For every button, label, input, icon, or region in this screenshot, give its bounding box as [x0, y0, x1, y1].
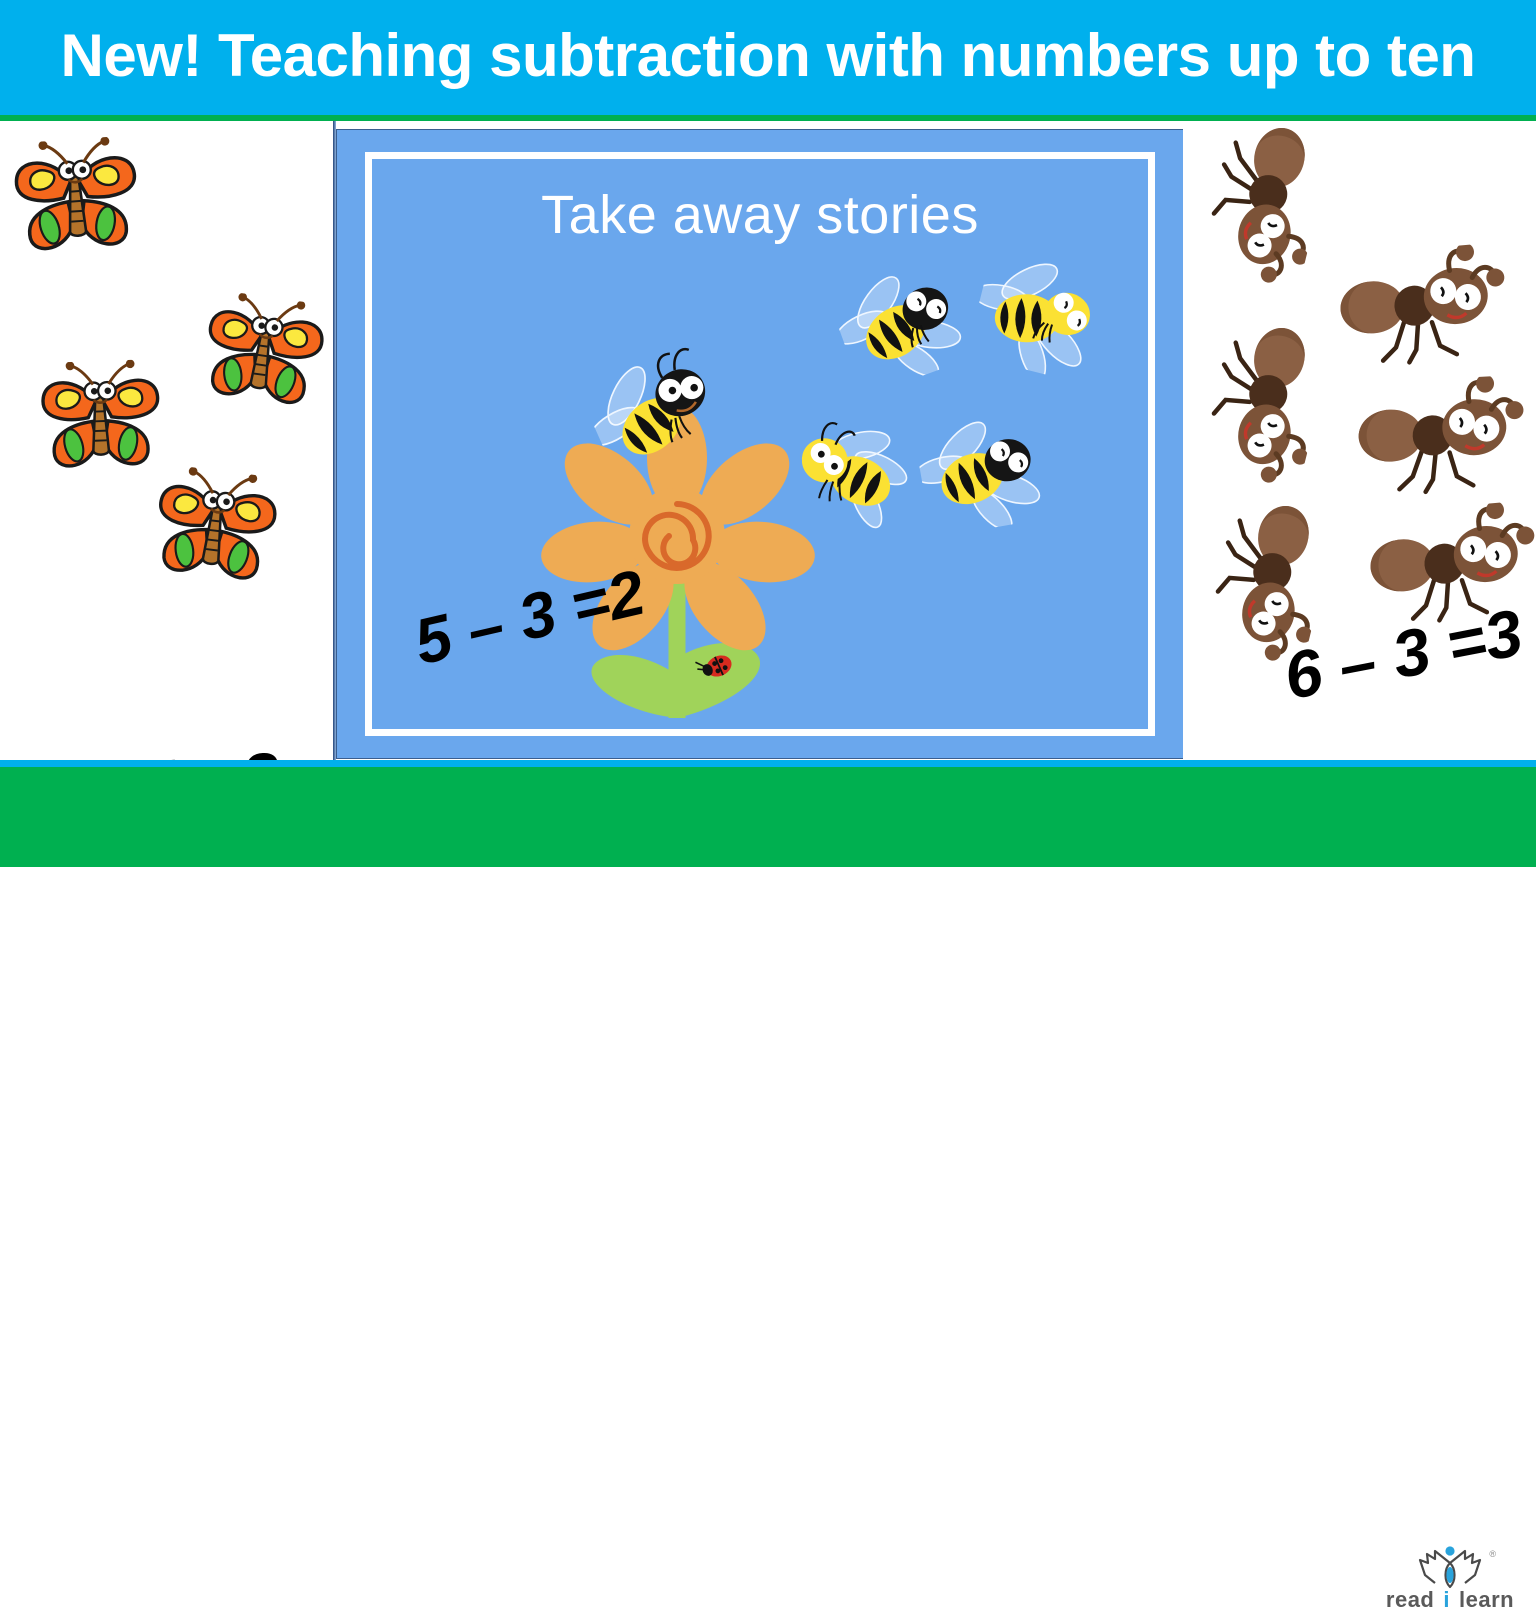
registered-mark: ®: [1489, 1549, 1496, 1559]
butterfly-icon: [192, 288, 340, 424]
ant-icon: [1350, 375, 1531, 509]
page-header: New! Teaching subtraction with numbers u…: [0, 0, 1536, 115]
content-band: 4 – 1 =3 Take away stories: [0, 121, 1536, 760]
lesson-slide[interactable]: Take away stories: [337, 130, 1183, 758]
readilearn-logo[interactable]: ® read i learn: [1376, 1539, 1524, 1623]
page-title: New! Teaching subtraction with numbers u…: [61, 26, 1476, 90]
ants-panel: 6 – 3 =3: [1183, 121, 1536, 760]
butterfly-icon: [143, 463, 293, 600]
slide-title: Take away stories: [337, 188, 1183, 242]
page-footer: ® read i learn: [0, 767, 1536, 867]
footer-accent-line: [0, 760, 1536, 767]
ant-icon: [1330, 242, 1515, 382]
bee-icon: [913, 408, 1061, 544]
equation-ants: 6 – 3 =3: [1279, 599, 1528, 710]
panel-divider-left: [333, 121, 336, 760]
ant-icon: [1186, 309, 1336, 492]
butterflies-panel: 4 – 1 =3: [0, 121, 334, 760]
butterfly-icon: [6, 134, 154, 268]
open-book-icon: [1411, 1545, 1489, 1594]
ant-icon: [1186, 109, 1336, 292]
butterfly-icon: [34, 359, 174, 485]
